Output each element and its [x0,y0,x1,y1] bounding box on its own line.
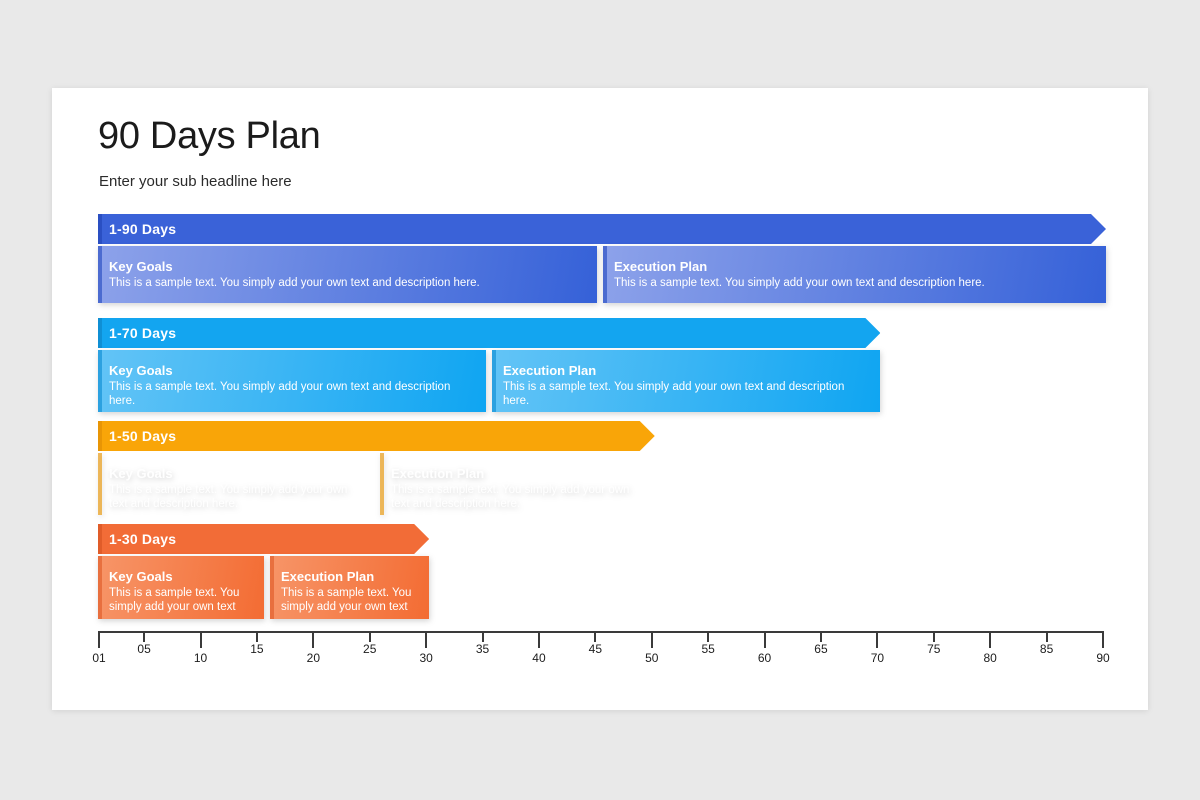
axis-tick-label-65: 65 [814,642,827,656]
axis-tick-label-55: 55 [701,642,714,656]
axis-tick-label-01: 01 [92,651,105,665]
card-left-edge [98,453,102,515]
card-left-edge [98,556,102,619]
axis-tick-label-75: 75 [927,642,940,656]
card-text: This is a sample text. You simply add yo… [109,276,585,290]
axis-tick-label-60: 60 [758,651,771,665]
timeline-bar-90[interactable]: 1-90 Days [98,214,1106,244]
axis-tick-35 [482,631,484,642]
axis-tick-label-45: 45 [589,642,602,656]
axis-tick-15 [256,631,258,642]
bar-left-edge [98,318,102,348]
bar-label: 1-50 Days [109,428,176,444]
card-title: Key Goals [109,363,474,378]
card-left-edge [603,246,607,303]
axis-tick-55 [707,631,709,642]
bar-label: 1-90 Days [109,221,176,237]
axis-tick-01 [98,631,100,648]
axis-tick-85 [1046,631,1048,642]
card-execution-plan-90[interactable]: Execution PlanThis is a sample text. You… [603,246,1106,303]
axis-tick-70 [876,631,878,648]
timeline-bar-70[interactable]: 1-70 Days [98,318,880,348]
timeline-bar-50[interactable]: 1-50 Days [98,421,655,451]
card-key-goals-50[interactable]: Key GoalsThis is a sample text. You simp… [98,453,374,515]
axis-tick-75 [933,631,935,642]
card-execution-plan-50[interactable]: Execution PlanThis is a sample text. You… [380,453,655,515]
bar-left-edge [98,214,102,244]
axis-tick-30 [425,631,427,648]
card-text: This is a sample text. You simply add yo… [109,380,474,408]
axis-tick-label-35: 35 [476,642,489,656]
slide-canvas: 90 Days Plan Enter your sub headline her… [52,88,1148,710]
card-left-edge [492,350,496,412]
axis-tick-45 [594,631,596,642]
axis-tick-label-70: 70 [871,651,884,665]
card-title: Key Goals [109,466,362,481]
bar-left-edge [98,524,102,554]
axis-tick-60 [764,631,766,648]
page-subtitle: Enter your sub headline here [99,173,292,190]
card-key-goals-30[interactable]: Key GoalsThis is a sample text. You simp… [98,556,264,619]
card-left-edge [98,350,102,412]
card-key-goals-70[interactable]: Key GoalsThis is a sample text. You simp… [98,350,486,412]
bar-label: 1-70 Days [109,325,176,341]
card-title: Key Goals [109,569,252,584]
card-title: Execution Plan [391,466,643,481]
axis-tick-label-10: 10 [194,651,207,665]
axis-tick-label-25: 25 [363,642,376,656]
card-text: This is a sample text. You simply add yo… [109,586,252,614]
timeline-bar-30[interactable]: 1-30 Days [98,524,429,554]
axis-tick-65 [820,631,822,642]
card-text: This is a sample text. You simply add yo… [281,586,417,614]
card-text: This is a sample text. You simply add yo… [109,483,362,511]
card-title: Execution Plan [614,259,1094,274]
card-text: This is a sample text. You simply add yo… [391,483,643,511]
axis-tick-label-85: 85 [1040,642,1053,656]
card-title: Execution Plan [503,363,868,378]
card-text: This is a sample text. You simply add yo… [614,276,1094,290]
card-execution-plan-30[interactable]: Execution PlanThis is a sample text. You… [270,556,429,619]
axis-tick-10 [200,631,202,648]
axis-tick-05 [143,631,145,642]
axis-tick-label-15: 15 [250,642,263,656]
axis-tick-label-90: 90 [1096,651,1109,665]
bar-label: 1-30 Days [109,531,176,547]
axis-tick-label-30: 30 [419,651,432,665]
axis-tick-25 [369,631,371,642]
axis-tick-40 [538,631,540,648]
card-left-edge [270,556,274,619]
axis-tick-50 [651,631,653,648]
axis-tick-label-80: 80 [984,651,997,665]
card-text: This is a sample text. You simply add yo… [503,380,868,408]
card-title: Key Goals [109,259,585,274]
axis-tick-90 [1102,631,1104,648]
card-title: Execution Plan [281,569,417,584]
card-left-edge [98,246,102,303]
axis-tick-label-50: 50 [645,651,658,665]
bar-left-edge [98,421,102,451]
axis-line [98,631,1104,633]
axis-tick-80 [989,631,991,648]
card-key-goals-90[interactable]: Key GoalsThis is a sample text. You simp… [98,246,597,303]
axis-tick-label-05: 05 [137,642,150,656]
axis-tick-label-40: 40 [532,651,545,665]
axis-tick-20 [312,631,314,648]
page-title: 90 Days Plan [98,115,320,158]
card-left-edge [380,453,384,515]
card-execution-plan-70[interactable]: Execution PlanThis is a sample text. You… [492,350,880,412]
axis-tick-label-20: 20 [307,651,320,665]
